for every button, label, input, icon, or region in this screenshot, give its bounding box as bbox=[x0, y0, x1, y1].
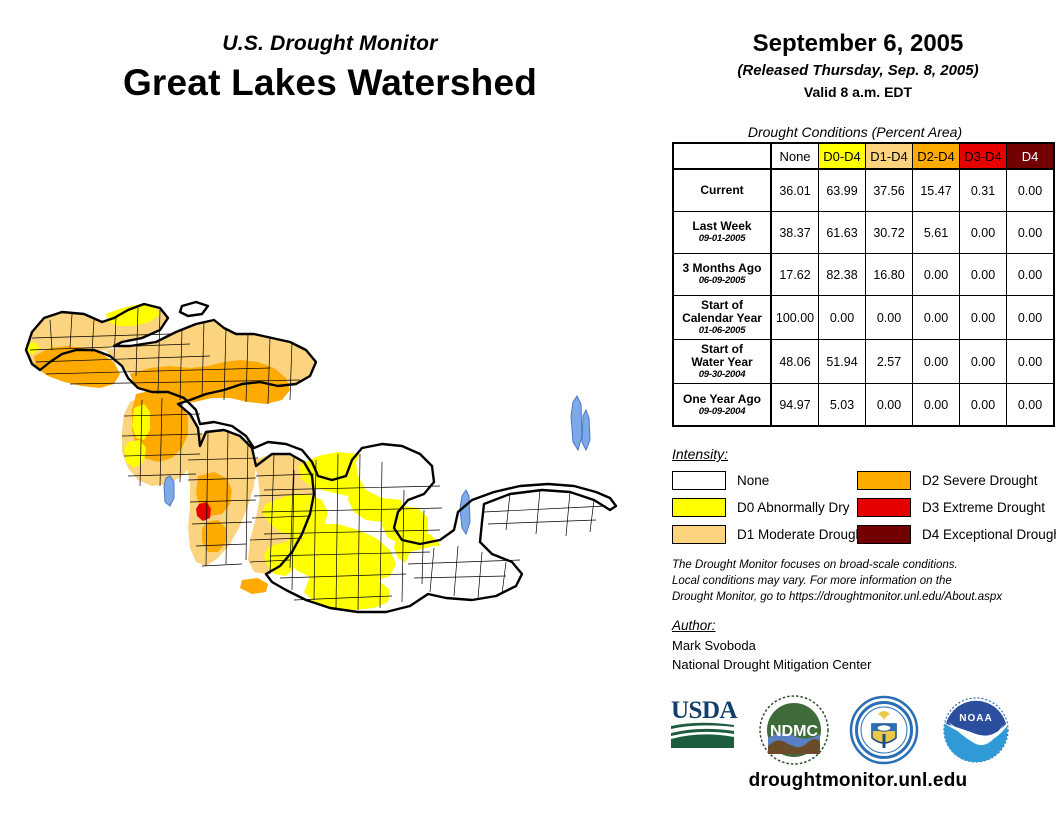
cell-oneyear-none: 94.97 bbox=[771, 384, 819, 427]
cell-3months-d3d4: 0.00 bbox=[960, 254, 1007, 296]
column-header-d0d4: D0-D4 bbox=[819, 143, 866, 169]
row-label-text: Last Week bbox=[692, 219, 751, 233]
cell-lastweek-d3d4: 0.00 bbox=[960, 212, 1007, 254]
cell-lastweek-d2d4: 5.61 bbox=[913, 212, 960, 254]
cell-calyear-none: 100.00 bbox=[771, 296, 819, 340]
author-block: Mark Svoboda National Drought Mitigation… bbox=[672, 637, 871, 675]
cell-oneyear-d0d4: 5.03 bbox=[819, 384, 866, 427]
legend-label-d4: D4 Exceptional Drought bbox=[922, 527, 1056, 542]
cell-lastweek-none: 38.37 bbox=[771, 212, 819, 254]
row-label-last-week: Last Week 09-01-2005 bbox=[673, 212, 771, 254]
legend-column-left: None D0 Abnormally Dry D1 Moderate Droug… bbox=[672, 468, 867, 549]
disclaimer-line-2: Local conditions may vary. For more info… bbox=[672, 574, 1052, 590]
page-subtitle: U.S. Drought Monitor bbox=[0, 32, 660, 56]
cell-3months-d0d4: 82.38 bbox=[819, 254, 866, 296]
author-organization: National Drought Mitigation Center bbox=[672, 656, 871, 675]
noaa-logo: NOAA bbox=[940, 694, 1012, 766]
legend-swatch-d1 bbox=[672, 525, 726, 544]
row-label-current: Current bbox=[673, 169, 771, 212]
legend-item-d2: D2 Severe Drought bbox=[857, 468, 1056, 492]
cell-current-d4: 0.00 bbox=[1007, 169, 1055, 212]
row-label-text: Start ofCalendar Year bbox=[682, 298, 762, 325]
cell-wateryear-d2d4: 0.00 bbox=[913, 340, 960, 384]
cell-calyear-d1d4: 0.00 bbox=[866, 296, 913, 340]
row-label-text: Start ofWater Year bbox=[691, 342, 752, 369]
column-header-d4: D4 bbox=[1007, 143, 1055, 169]
legend-label-none: None bbox=[737, 473, 769, 488]
cell-3months-d4: 0.00 bbox=[1007, 254, 1055, 296]
svg-text:USDA: USDA bbox=[671, 697, 738, 724]
cell-wateryear-d3d4: 0.00 bbox=[960, 340, 1007, 384]
report-release-date: (Released Thursday, Sep. 8, 2005) bbox=[660, 62, 1056, 79]
row-label-date: 09-30-2004 bbox=[676, 370, 768, 380]
row-label-date: 01-06-2005 bbox=[676, 326, 768, 336]
cell-3months-d1d4: 16.80 bbox=[866, 254, 913, 296]
drought-map bbox=[10, 290, 650, 630]
legend-label-d2: D2 Severe Drought bbox=[922, 473, 1038, 488]
map-svg bbox=[10, 290, 650, 630]
report-date: September 6, 2005 bbox=[660, 30, 1056, 58]
disclaimer-line-3: Drought Monitor, go to https://droughtmo… bbox=[672, 590, 1052, 606]
legend-swatch-d3 bbox=[857, 498, 911, 517]
row-label-3-months-ago: 3 Months Ago 06-09-2005 bbox=[673, 254, 771, 296]
table-row: Start ofWater Year 09-30-2004 48.06 51.9… bbox=[673, 340, 1054, 384]
disclaimer-text: The Drought Monitor focuses on broad-sca… bbox=[672, 558, 1052, 606]
table-caption: Drought Conditions (Percent Area) bbox=[660, 124, 1050, 140]
legend-label-d0: D0 Abnormally Dry bbox=[737, 500, 850, 515]
legend-item-d1: D1 Moderate Drought bbox=[672, 522, 867, 546]
usdc-seal-logo bbox=[848, 694, 920, 766]
svg-text:NDMC: NDMC bbox=[770, 723, 818, 740]
column-header-none: None bbox=[771, 143, 819, 169]
report-valid-time: Valid 8 a.m. EDT bbox=[660, 84, 1056, 100]
cell-wateryear-d0d4: 51.94 bbox=[819, 340, 866, 384]
cell-current-d3d4: 0.31 bbox=[960, 169, 1007, 212]
cell-3months-d2d4: 0.00 bbox=[913, 254, 960, 296]
cell-wateryear-d1d4: 2.57 bbox=[866, 340, 913, 384]
column-header-d2d4: D2-D4 bbox=[913, 143, 960, 169]
legend-item-none: None bbox=[672, 468, 867, 492]
row-label-date: 06-09-2005 bbox=[676, 276, 768, 286]
row-label-date: 09-09-2004 bbox=[676, 407, 768, 417]
cell-current-d1d4: 37.56 bbox=[866, 169, 913, 212]
ndmc-logo: NDMC bbox=[758, 694, 830, 766]
row-label-text: One Year Ago bbox=[683, 392, 761, 406]
usda-logo: USDA bbox=[668, 694, 738, 750]
legend-item-d4: D4 Exceptional Drought bbox=[857, 522, 1056, 546]
table-row: 3 Months Ago 06-09-2005 17.62 82.38 16.8… bbox=[673, 254, 1054, 296]
cell-oneyear-d3d4: 0.00 bbox=[960, 384, 1007, 427]
svg-text:NOAA: NOAA bbox=[959, 713, 992, 724]
legend-label-d3: D3 Extreme Drought bbox=[922, 500, 1045, 515]
cell-oneyear-d1d4: 0.00 bbox=[866, 384, 913, 427]
legend-item-d0: D0 Abnormally Dry bbox=[672, 495, 867, 519]
table-corner-cell bbox=[673, 143, 771, 169]
column-header-d3d4: D3-D4 bbox=[960, 143, 1007, 169]
disclaimer-line-1: The Drought Monitor focuses on broad-sca… bbox=[672, 558, 1052, 574]
legend-item-d3: D3 Extreme Drought bbox=[857, 495, 1056, 519]
legend-swatch-none bbox=[672, 471, 726, 490]
intensity-legend-title: Intensity: bbox=[672, 446, 728, 462]
cell-calyear-d4: 0.00 bbox=[1007, 296, 1055, 340]
table-row: One Year Ago 09-09-2004 94.97 5.03 0.00 … bbox=[673, 384, 1054, 427]
cell-oneyear-d2d4: 0.00 bbox=[913, 384, 960, 427]
row-label-start-calendar-year: Start ofCalendar Year 01-06-2005 bbox=[673, 296, 771, 340]
cell-current-d2d4: 15.47 bbox=[913, 169, 960, 212]
row-label-text: 3 Months Ago bbox=[683, 261, 762, 275]
legend-swatch-d2 bbox=[857, 471, 911, 490]
legend-label-d1: D1 Moderate Drought bbox=[737, 527, 867, 542]
row-label-date: 09-01-2005 bbox=[676, 234, 768, 244]
cell-calyear-d2d4: 0.00 bbox=[913, 296, 960, 340]
table-row: Current 36.01 63.99 37.56 15.47 0.31 0.0… bbox=[673, 169, 1054, 212]
table-row: Start ofCalendar Year 01-06-2005 100.00 … bbox=[673, 296, 1054, 340]
cell-lastweek-d1d4: 30.72 bbox=[866, 212, 913, 254]
table-header-row: None D0-D4 D1-D4 D2-D4 D3-D4 D4 bbox=[673, 143, 1054, 169]
cell-wateryear-d4: 0.00 bbox=[1007, 340, 1055, 384]
cell-lastweek-d0d4: 61.63 bbox=[819, 212, 866, 254]
cell-3months-none: 17.62 bbox=[771, 254, 819, 296]
cell-current-none: 36.01 bbox=[771, 169, 819, 212]
table-row: Last Week 09-01-2005 38.37 61.63 30.72 5… bbox=[673, 212, 1054, 254]
page-title: Great Lakes Watershed bbox=[0, 62, 660, 104]
cell-oneyear-d4: 0.00 bbox=[1007, 384, 1055, 427]
row-label-one-year-ago: One Year Ago 09-09-2004 bbox=[673, 384, 771, 427]
author-label: Author: bbox=[672, 618, 716, 633]
row-label-start-water-year: Start ofWater Year 09-30-2004 bbox=[673, 340, 771, 384]
website-url: droughtmonitor.unl.edu bbox=[660, 770, 1056, 792]
cell-calyear-d0d4: 0.00 bbox=[819, 296, 866, 340]
cell-wateryear-none: 48.06 bbox=[771, 340, 819, 384]
legend-column-right: D2 Severe Drought D3 Extreme Drought D4 … bbox=[857, 468, 1056, 549]
legend-swatch-d0 bbox=[672, 498, 726, 517]
drought-conditions-table: None D0-D4 D1-D4 D2-D4 D3-D4 D4 Current … bbox=[672, 142, 1055, 427]
row-label-text: Current bbox=[700, 183, 743, 197]
cell-calyear-d3d4: 0.00 bbox=[960, 296, 1007, 340]
legend-swatch-d4 bbox=[857, 525, 911, 544]
logo-row: USDA NDMC NOAA bbox=[660, 694, 1050, 766]
column-header-d1d4: D1-D4 bbox=[866, 143, 913, 169]
cell-lastweek-d4: 0.00 bbox=[1007, 212, 1055, 254]
cell-current-d0d4: 63.99 bbox=[819, 169, 866, 212]
author-name: Mark Svoboda bbox=[672, 637, 871, 656]
